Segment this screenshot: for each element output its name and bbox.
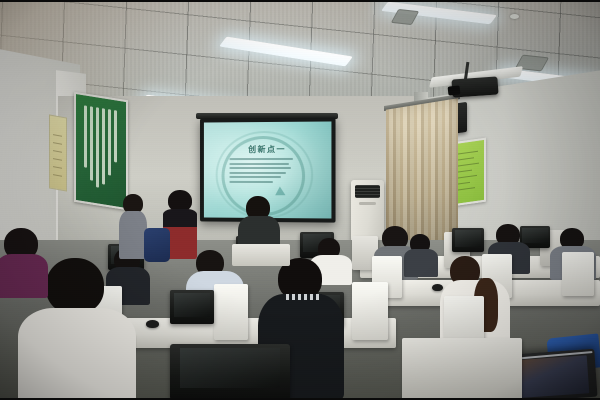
notice-text-line [53,174,62,177]
green-board-text-column [114,110,117,162]
green-board-text-column [90,106,93,180]
classroom-photo: 创新点一 [0,0,600,400]
computer-mouse[interactable] [432,284,443,291]
projector-lens-icon [448,85,461,95]
notice-text-line [53,134,62,137]
green-board-text-column [96,107,99,187]
desktop-monitor [170,290,214,324]
desktop-monitor [452,228,484,252]
smoke-detector-icon [510,14,519,19]
air-conditioner-display [359,202,376,205]
poster-text-line [458,175,477,179]
desk-partition [352,282,388,340]
podium [232,244,290,266]
poster-text-line [458,163,479,167]
green-board-text-column [102,108,105,184]
poster-text-line [458,151,478,155]
desktop-monitor [170,344,290,400]
poster-text-line [458,170,472,173]
notice-text-line [53,142,62,145]
poster-text-line [458,187,475,190]
poster-text-line [458,182,470,185]
notice-text-line [53,166,62,169]
poster-text-line [458,157,474,160]
green-notice-board [74,92,128,211]
desk-partition [562,252,594,296]
computer-mouse[interactable] [146,320,159,328]
cream-notice-sheet [49,114,67,191]
green-board-text-column [108,109,111,175]
air-conditioner-grille [355,185,380,198]
green-board-text-column [84,105,87,167]
notice-text-line [53,158,62,161]
desk-partition [402,338,522,400]
notice-text-line [53,150,62,153]
desk-partition [214,284,248,340]
backpack [144,228,170,262]
